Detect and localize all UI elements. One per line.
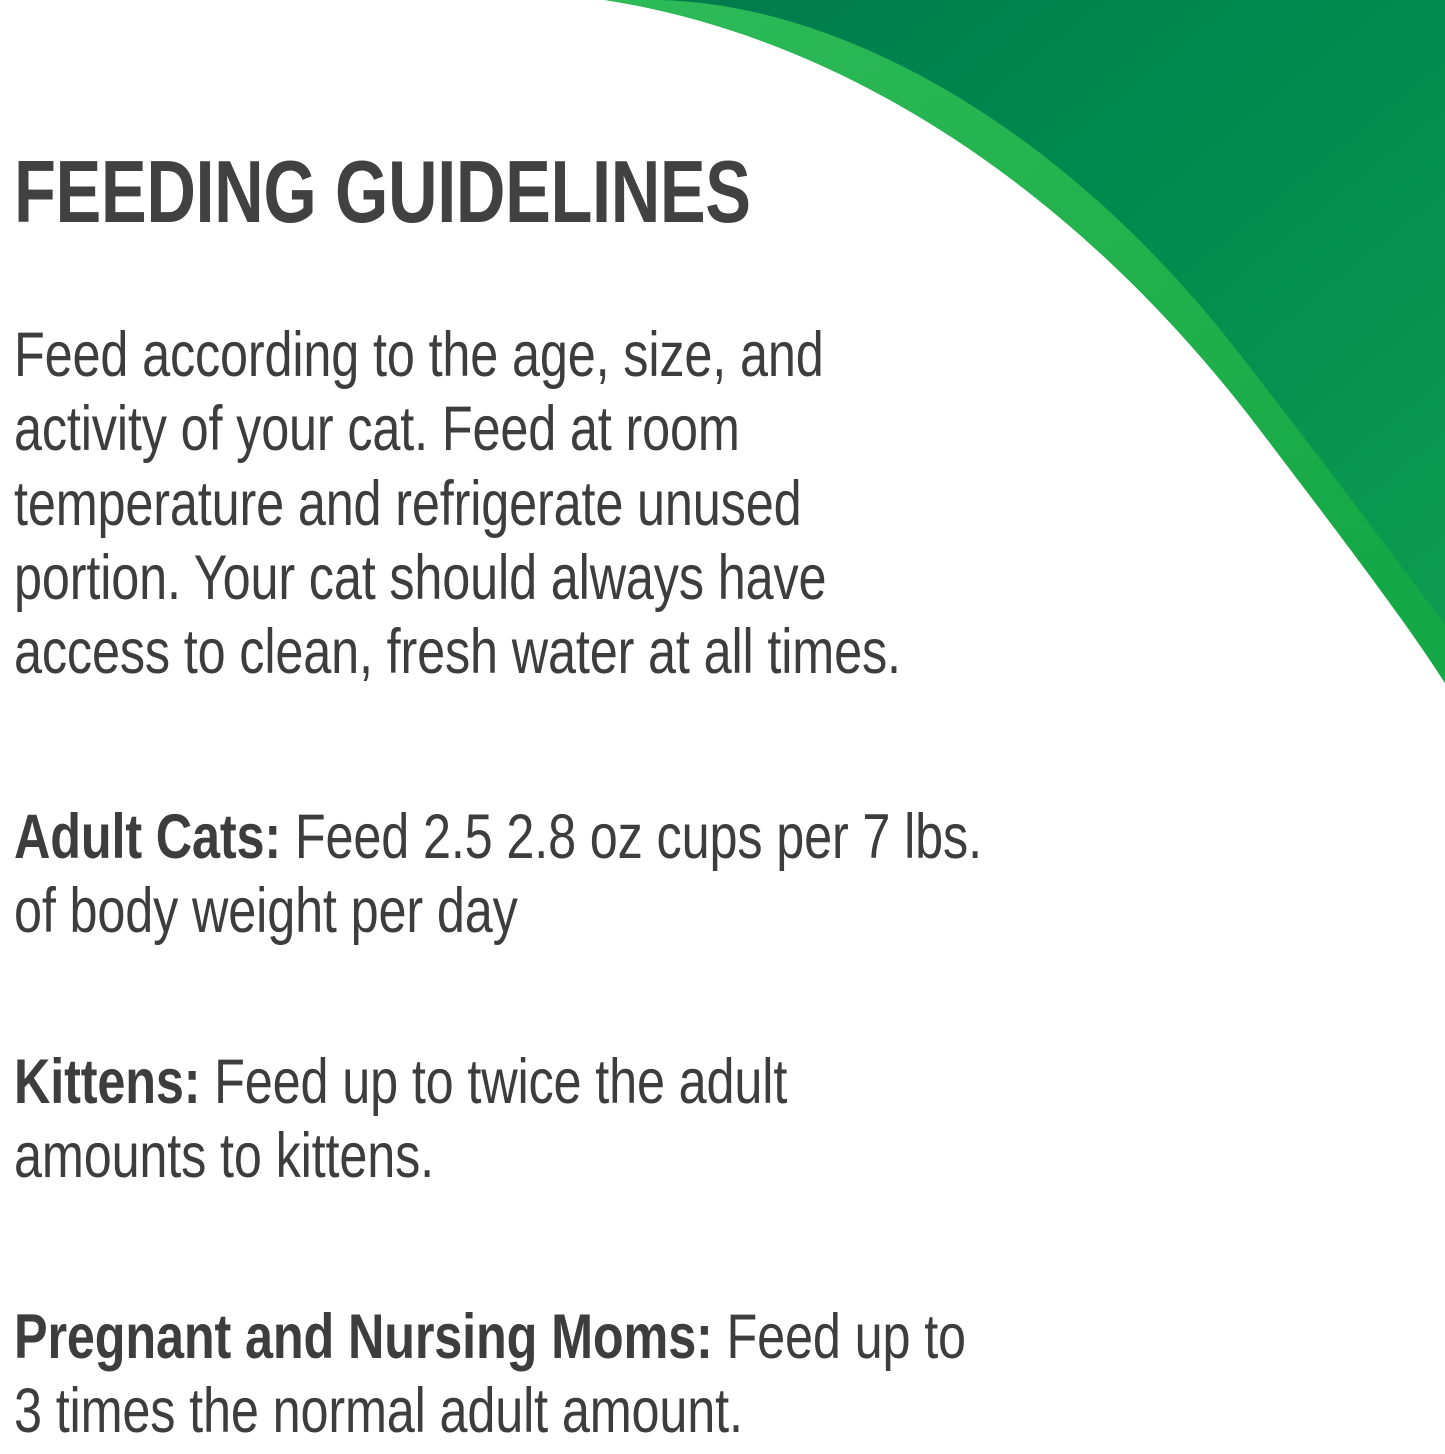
- section-adult-cats-text-1: Feed 2.5 2.8 oz cups per 7 lbs.: [281, 802, 982, 872]
- section-pregnant-nursing-moms-text-1: Feed up to: [713, 1302, 966, 1372]
- section-intro-line-2: activity of your cat. Feed at room: [14, 392, 1190, 466]
- section-intro: Feed according to the age, size, and act…: [14, 318, 1190, 690]
- section-kittens-line-1: Kittens: Feed up to twice the adult: [14, 1045, 1190, 1119]
- section-pregnant-nursing-moms-line-1: Pregnant and Nursing Moms: Feed up to: [14, 1300, 1358, 1374]
- section-pregnant-nursing-moms-lead: Pregnant and Nursing Moms:: [14, 1302, 713, 1372]
- section-intro-line-1: Feed according to the age, size, and: [14, 318, 1190, 392]
- section-pregnant-nursing-moms-line-2: 3 times the normal adult amount.: [14, 1374, 1358, 1448]
- section-adult-cats-line-2: of body weight per day: [14, 874, 1326, 948]
- page-title: FEEDING GUIDELINES: [14, 150, 751, 234]
- section-intro-line-5: access to clean, fresh water at all time…: [14, 615, 1190, 689]
- section-intro-line-4: portion. Your cat should always have: [14, 541, 1190, 615]
- section-kittens-text-1: Feed up to twice the adult: [200, 1047, 787, 1117]
- section-adult-cats-lead: Adult Cats:: [14, 802, 281, 872]
- feeding-guidelines-panel: FEEDING GUIDELINES Feed according to the…: [0, 0, 1445, 1454]
- section-kittens-lead: Kittens:: [14, 1047, 200, 1117]
- section-adult-cats: Adult Cats: Feed 2.5 2.8 oz cups per 7 l…: [14, 800, 1326, 949]
- section-pregnant-nursing-moms: Pregnant and Nursing Moms: Feed up to 3 …: [14, 1300, 1358, 1449]
- section-adult-cats-line-1: Adult Cats: Feed 2.5 2.8 oz cups per 7 l…: [14, 800, 1326, 874]
- section-intro-line-3: temperature and refrigerate unused: [14, 467, 1190, 541]
- section-kittens-line-2: amounts to kittens.: [14, 1119, 1190, 1193]
- section-kittens: Kittens: Feed up to twice the adult amou…: [14, 1045, 1190, 1194]
